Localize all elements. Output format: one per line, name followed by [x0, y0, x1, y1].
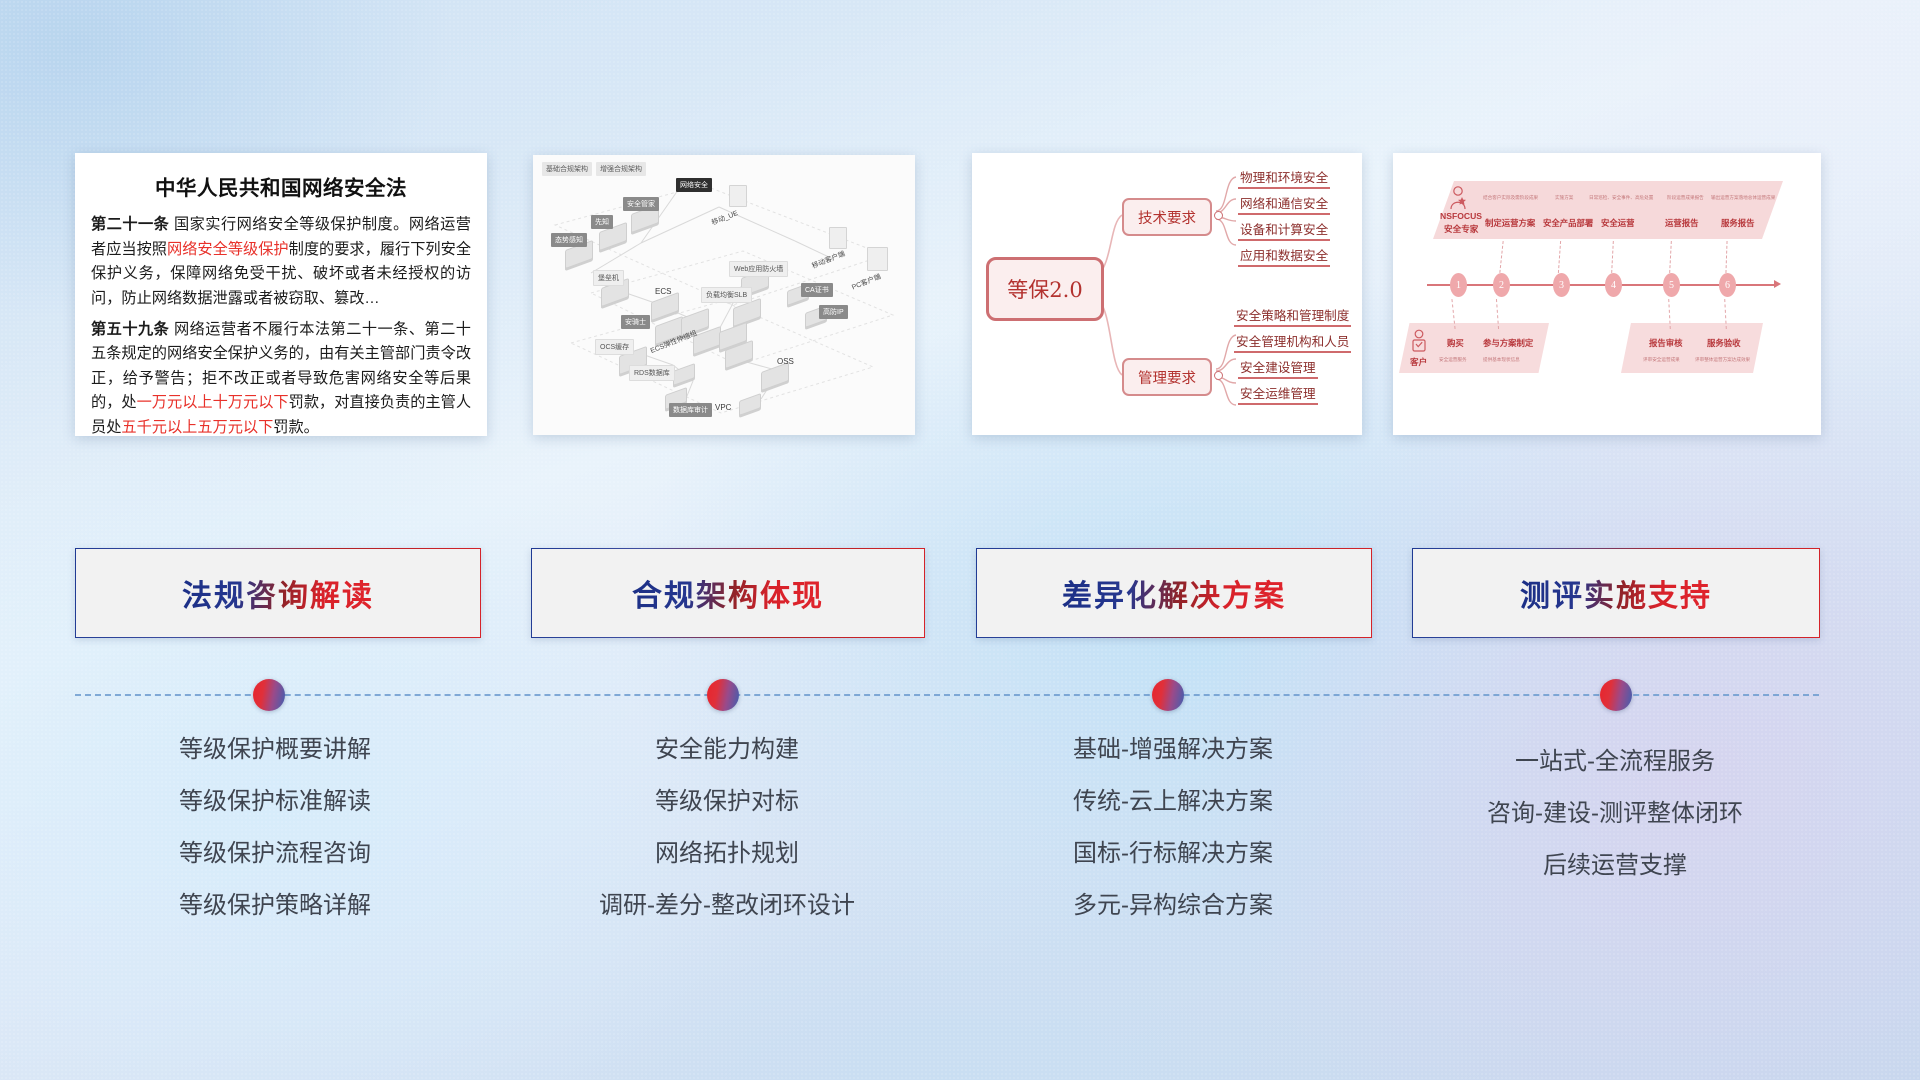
feature-list-4: 一站式-全流程服务 咨询-建设-测评整体闭环 后续运营支撑: [1395, 750, 1835, 906]
mindmap: 等保2.0 技术要求 物理和环境安全 网络和通信安全 设备和计算安全 应用和数据…: [972, 153, 1362, 435]
timeline-node-3[interactable]: 3: [1553, 273, 1570, 297]
bottom-step-4-label: 服务验收: [1707, 337, 1741, 349]
section-title-3: 差异化解决方案: [1062, 571, 1286, 615]
law-article-59-number: 第五十九条: [91, 321, 169, 338]
list-item: 咨询-建设-测评整体闭环: [1395, 802, 1835, 826]
arch-node-vpc: VPC: [715, 403, 731, 412]
arch-node-situational-awareness: 态势感知: [551, 233, 587, 247]
timeline-connector-b3: [1668, 299, 1672, 329]
arch-node-ocs: OCS缓存: [595, 339, 634, 355]
card-cybersecurity-law[interactable]: 中华人民共和国网络安全法 第二十一条 国家实行网络安全等级保护制度。网络运营者应…: [75, 153, 487, 436]
arch-icon-mobile-ue: [729, 185, 747, 207]
timeline-node-1[interactable]: 1: [1450, 273, 1467, 297]
timeline-marker-3[interactable]: [1152, 679, 1184, 711]
mindmap-collapse-dot-management[interactable]: [1214, 371, 1223, 380]
timeline-node-6[interactable]: 6: [1719, 273, 1736, 297]
list-item: 等级保护对标: [512, 790, 942, 814]
mindmap-leaf-org-personnel: 安全管理机构和人员: [1234, 331, 1351, 353]
list-item: 调研-差分-整改闭环设计: [512, 894, 942, 918]
arch-node-anqishi: 安骑士: [621, 315, 650, 329]
card-dengbao-mindmap[interactable]: 等保2.0 技术要求 物理和环境安全 网络和通信安全 设备和计算安全 应用和数据…: [972, 153, 1362, 435]
mindmap-leaf-physical-env: 物理和环境安全: [1238, 167, 1330, 189]
nsfocus-expert-line1: NSFOCUS: [1440, 211, 1482, 221]
nsfocus-customer-band-right: [1621, 323, 1763, 373]
feature-list-3: 基础-增强解决方案 传统-云上解决方案 国标-行标解决方案 多元-异构综合方案: [958, 738, 1388, 946]
mindmap-leaf-app-data: 应用和数据安全: [1238, 245, 1330, 267]
arch-node-security-butler: 安全管家: [623, 197, 659, 211]
top-step-4-label: 运营报告: [1665, 217, 1699, 229]
law-title: 中华人民共和国网络安全法: [91, 171, 471, 201]
list-item: 等级保护策略详解: [60, 894, 490, 918]
timeline-connector-b4: [1724, 299, 1728, 329]
list-item: 一站式-全流程服务: [1395, 750, 1835, 774]
timeline-node-2[interactable]: 2: [1493, 273, 1510, 297]
mindmap-collapse-dot-technical[interactable]: [1214, 211, 1223, 220]
timeline-connector-2: [1499, 241, 1504, 273]
list-item: 基础-增强解决方案: [958, 738, 1388, 762]
card-nsfocus-service-timeline[interactable]: NSFOCUS 安全专家 客户 1 2 3 4 5 6: [1393, 153, 1821, 435]
list-item: 传统-云上解决方案: [958, 790, 1388, 814]
bottom-step-2-label: 参与方案制定: [1483, 337, 1533, 349]
mindmap-leaf-policy-system: 安全策略和管理制度: [1234, 305, 1351, 327]
top-step-2-sub: 实施方案: [1555, 195, 1573, 201]
arch-node-rds: RDS数据库: [629, 365, 675, 381]
bottom-step-4-sub: 评审整体运营方案达成效果: [1695, 357, 1750, 363]
nsfocus-expert-band: [1433, 181, 1783, 239]
section-title-1: 法规咨询解读: [182, 571, 374, 615]
top-step-3-sub: 日常巡检、安全事件、高危处置: [1589, 195, 1653, 201]
mindmap-branch-management[interactable]: 管理要求: [1122, 358, 1212, 396]
bottom-step-3-label: 报告审核: [1649, 337, 1683, 349]
timeline-connector-5: [1669, 241, 1673, 273]
mindmap-root-node[interactable]: 等保2.0: [986, 257, 1104, 321]
timeline-node-4[interactable]: 4: [1605, 273, 1622, 297]
arch-node-ca: CA证书: [801, 283, 833, 297]
timeline-connector-6: [1725, 241, 1728, 273]
top-step-5-label: 服务报告: [1721, 217, 1755, 229]
law-a59-run-1: 一万元以上十万元以下: [137, 394, 289, 411]
nsfocus-timeline: NSFOCUS 安全专家 客户 1 2 3 4 5 6: [1393, 153, 1821, 435]
law-a21-run-1: 网络安全等级保护: [167, 241, 289, 258]
section-title-box-4[interactable]: 测评实施支持: [1412, 548, 1820, 638]
timeline-dashed-line: [75, 694, 1819, 696]
list-item: 安全能力构建: [512, 738, 942, 762]
list-item: 等级保护标准解读: [60, 790, 490, 814]
arch-node-anti-ddos: 高防IP: [819, 305, 848, 319]
feature-list-2: 安全能力构建 等级保护对标 网络拓扑规划 调研-差分-整改闭环设计: [512, 738, 942, 946]
law-article-21: 第二十一条 国家实行网络安全等级保护制度。网络运营者应当按照网络安全等级保护制度…: [91, 213, 471, 312]
card-compliance-architecture[interactable]: 基础合规架构 增强合规架构: [533, 155, 915, 435]
top-step-1-label: 制定运营方案: [1485, 217, 1535, 229]
arch-icon-pc-client: [867, 247, 888, 271]
section-title-4: 测评实施支持: [1520, 571, 1712, 615]
section-title-2: 合规架构体现: [632, 571, 824, 615]
list-item: 后续运营支撑: [1395, 854, 1835, 878]
security-expert-icon: [1447, 185, 1469, 211]
top-step-3-label: 安全运营: [1601, 217, 1635, 229]
timeline-node-5[interactable]: 5: [1663, 273, 1680, 297]
nsfocus-expert-line2: 安全专家: [1444, 223, 1478, 235]
timeline-marker-4[interactable]: [1600, 679, 1632, 711]
bottom-step-3-sub: 评审安全运营成果: [1643, 357, 1680, 363]
arch-node-waf: Web应用防火墙: [729, 261, 788, 277]
top-step-1-sub: 结合客户实际及需阶段成果: [1483, 195, 1538, 201]
mindmap-leaf-device-compute: 设备和计算安全: [1238, 219, 1330, 241]
mindmap-branch-technical[interactable]: 技术要求: [1122, 198, 1212, 236]
arch-node-xianzhi: 先知: [591, 215, 613, 229]
law-a59-run-4: 罚款。: [273, 419, 319, 436]
top-step-5-sub: 输出运营方案落地总体运营成果: [1711, 195, 1775, 201]
list-item: 多元-异构综合方案: [958, 894, 1388, 918]
list-item: 等级保护概要讲解: [60, 738, 490, 762]
section-title-box-3[interactable]: 差异化解决方案: [976, 548, 1372, 638]
section-title-box-2[interactable]: 合规架构体现: [531, 548, 925, 638]
arch-badge-security: 网络安全: [676, 178, 712, 192]
timeline-marker-2[interactable]: [707, 679, 739, 711]
list-item: 国标-行标解决方案: [958, 842, 1388, 866]
list-item: 网络拓扑规划: [512, 842, 942, 866]
arch-node-ecs: ECS: [655, 287, 671, 296]
bottom-step-1-label: 购买: [1447, 337, 1464, 349]
law-document: 中华人民共和国网络安全法 第二十一条 国家实行网络安全等级保护制度。网络运营者应…: [75, 153, 487, 436]
law-article-59: 第五十九条 网络运营者不履行本法第二十一条、第二十五条规定的网络安全保护义务的，…: [91, 318, 471, 437]
section-title-box-1[interactable]: 法规咨询解读: [75, 548, 481, 638]
arch-icon-mobile-client: [829, 227, 847, 249]
timeline-connector-4: [1611, 241, 1615, 273]
top-step-2-label: 安全产品部署: [1543, 217, 1593, 229]
preview-cards-row: 中华人民共和国网络安全法 第二十一条 国家实行网络安全等级保护制度。网络运营者应…: [0, 0, 1920, 450]
bottom-step-1-sub: 安全运营服务: [1439, 357, 1467, 363]
arch-node-slb: 负载均衡SLB: [701, 287, 752, 303]
mindmap-leaf-network-comm: 网络和通信安全: [1238, 193, 1330, 215]
feature-list-1: 等级保护概要讲解 等级保护标准解读 等级保护流程咨询 等级保护策略详解: [60, 738, 490, 946]
arch-node-bastion: 堡垒机: [593, 270, 624, 286]
mindmap-leaf-operations: 安全运维管理: [1238, 383, 1318, 405]
timeline-axis-arrow: [1774, 280, 1781, 288]
customer-label: 客户: [1410, 356, 1427, 368]
timeline-marker-1[interactable]: [253, 679, 285, 711]
top-step-4-sub: 阶段运营成果报告: [1667, 195, 1704, 201]
arch-node-db-audit: 数据库审计: [669, 403, 712, 417]
law-a59-run-3: 五千元以上五万元以下: [121, 419, 273, 436]
law-article-21-number: 第二十一条: [91, 216, 169, 233]
arch-node-oss: OSS: [777, 357, 794, 366]
customer-icon: [1409, 329, 1429, 355]
list-item: 等级保护流程咨询: [60, 842, 490, 866]
timeline-connector-3: [1558, 241, 1562, 273]
bottom-step-2-sub: 提供基本现状信息: [1483, 357, 1520, 363]
architecture-diagram: 基础合规架构 增强合规架构: [533, 155, 915, 435]
mindmap-leaf-construction: 安全建设管理: [1238, 357, 1318, 379]
